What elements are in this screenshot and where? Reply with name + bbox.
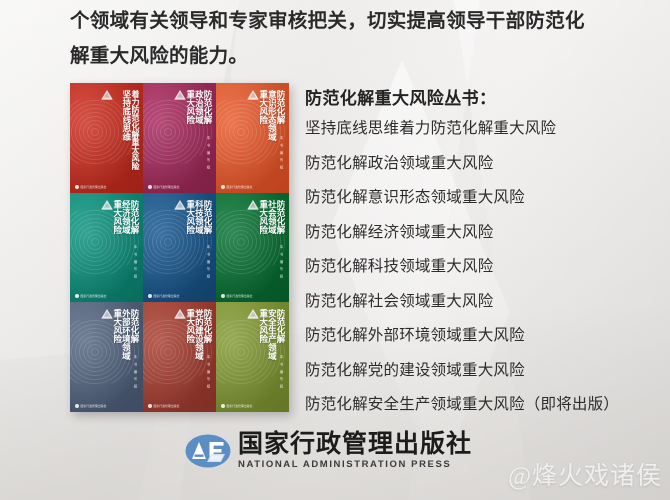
cover-author-line: 本 书 编 写 组	[133, 355, 138, 388]
cover-publisher-name: 国家行政管理出版社	[227, 185, 253, 189]
mountain-emblem-icon	[245, 197, 260, 208]
cover-publisher-name: 国家行政管理出版社	[81, 294, 107, 298]
cover-title-column: 防范化解	[203, 200, 212, 234]
series-list-item: 防范化解安全生产领域重大风险（即将出版）	[305, 397, 665, 413]
mountain-emblem-icon	[245, 87, 260, 98]
cover-author-line: 本 书 编 写 组	[206, 136, 211, 169]
book-economy: 防范化解经济领域重大风险本 书 编 写 组国家行政管理出版社	[70, 193, 143, 303]
cover-publisher-dot-icon	[75, 185, 79, 189]
mountain-emblem-icon	[99, 87, 114, 98]
cover-publisher-dot-icon	[75, 294, 79, 298]
series-title: 防范化解重大风险丛书：	[305, 84, 665, 109]
publisher-footer: 国家行政管理出版社 NATIONAL ADMINISTRATION PRESS	[185, 432, 472, 470]
mountain-emblem-icon	[99, 197, 114, 208]
series-list-item: 防范化解社会领域重大风险	[305, 294, 665, 310]
cover-author-line: 本 书 编 写 组	[279, 355, 284, 388]
series-list-item: 防范化解意识形态领域重大风险	[305, 190, 665, 206]
book-society: 防范化解社会领域重大风险本 书 编 写 组国家行政管理出版社	[216, 193, 289, 303]
mountain-emblem-icon	[245, 306, 260, 317]
series-list-item: 防范化解外部环境领域重大风险	[305, 328, 665, 344]
cover-publisher-dot-icon	[221, 294, 225, 298]
watermark-text: @烽火戏诸侯	[508, 456, 662, 492]
series-list-item: 防范化解政治领域重大风险	[305, 156, 665, 172]
cover-publisher-name: 国家行政管理出版社	[81, 185, 107, 189]
cover-publisher-name: 国家行政管理出版社	[154, 404, 180, 408]
mountain-emblem-icon	[99, 306, 114, 317]
series-book-list: 坚持底线思维着力防范化解重大风险防范化解政治领域重大风险防范化解意识形态领域重大…	[305, 121, 665, 413]
book-work-safety: 防范化解安全生产领域重大风险本 书 编 写 组国家行政管理出版社	[216, 302, 289, 412]
cover-author-line: 本 书 编 写 组	[279, 136, 284, 169]
cover-publisher-mark: 国家行政管理出版社	[148, 404, 180, 408]
cover-publisher-mark: 国家行政管理出版社	[75, 404, 107, 408]
cover-author-line: 本 书 编 写 组	[133, 245, 138, 278]
book-ideology: 防范化解意识形态领域重大风险本 书 编 写 组国家行政管理出版社	[216, 83, 289, 193]
mountain-emblem-icon	[172, 306, 187, 317]
cover-publisher-mark: 国家行政管理出版社	[221, 185, 253, 189]
series-panel: 防范化解重大风险丛书： 坚持底线思维着力防范化解重大风险防范化解政治领域重大风险…	[305, 84, 665, 432]
book-party-building: 防范化解党的建设领域重大风险本 书 编 写 组国家行政管理出版社	[143, 302, 216, 412]
cover-publisher-dot-icon	[148, 185, 152, 189]
cover-author-line: 本 书 编 写 组	[206, 245, 211, 278]
cover-title-column: 防范化解	[276, 309, 285, 343]
mountain-emblem-icon	[172, 87, 187, 98]
cover-publisher-name: 国家行政管理出版社	[227, 294, 253, 298]
series-list-item: 坚持底线思维着力防范化解重大风险	[305, 121, 665, 137]
cover-author-line: 本 书 编 写 组	[206, 355, 211, 388]
cover-title-column: 坚持底线思维	[122, 90, 131, 141]
cover-publisher-mark: 国家行政管理出版社	[148, 294, 180, 298]
cover-publisher-mark: 国家行政管理出版社	[148, 185, 180, 189]
mountain-emblem-icon	[172, 197, 187, 208]
header-paragraph: 个领域有关领导和专家审核把关，切实提高领导干部防范化 解重大风险的能力。	[70, 4, 622, 74]
cover-publisher-name: 国家行政管理出版社	[154, 294, 180, 298]
book-political: 防范化解政治领域重大风险本 书 编 写 组国家行政管理出版社	[143, 83, 216, 193]
cover-title-column: 防范化解	[276, 90, 285, 124]
publisher-logo-icon	[185, 434, 231, 468]
series-list-item: 防范化解党的建设领域重大风险	[305, 363, 665, 379]
cover-author-line: 本 书 编 写 组	[133, 136, 138, 169]
cover-publisher-dot-icon	[75, 404, 79, 408]
book-cover-grid: 着力防范化解重大风险坚持底线思维本 书 编 写 组国家行政管理出版社防范化解政治…	[70, 83, 289, 412]
cover-title-column: 防范化解	[203, 90, 212, 124]
publisher-name-cn: 国家行政管理出版社	[238, 432, 472, 458]
cover-title-column: 防范化解	[130, 200, 139, 234]
cover-publisher-dot-icon	[148, 294, 152, 298]
cover-publisher-mark: 国家行政管理出版社	[221, 404, 253, 408]
header-paragraph-line-1: 个领域有关领导和专家审核把关，切实提高领导干部防范化	[70, 4, 622, 39]
cover-publisher-mark: 国家行政管理出版社	[221, 294, 253, 298]
cover-author-line: 本 书 编 写 组	[279, 245, 284, 278]
series-list-item: 防范化解经济领域重大风险	[305, 225, 665, 241]
cover-title-column: 防范化解	[276, 200, 285, 234]
cover-publisher-dot-icon	[221, 404, 225, 408]
cover-publisher-name: 国家行政管理出版社	[227, 404, 253, 408]
publisher-name-en: NATIONAL ADMINISTRATION PRESS	[238, 459, 472, 470]
cover-publisher-mark: 国家行政管理出版社	[75, 294, 107, 298]
cover-title-column: 防范化解	[130, 309, 139, 343]
cover-publisher-dot-icon	[221, 185, 225, 189]
book-external-environment: 防范化解外部环境领域重大风险本 书 编 写 组国家行政管理出版社	[70, 302, 143, 412]
header-paragraph-line-2: 解重大风险的能力。	[70, 39, 622, 74]
book-technology: 防范化解科技领域重大风险本 书 编 写 组国家行政管理出版社	[143, 193, 216, 303]
book-bottom-line-thinking: 着力防范化解重大风险坚持底线思维本 书 编 写 组国家行政管理出版社	[70, 83, 143, 193]
cover-publisher-name: 国家行政管理出版社	[81, 404, 107, 408]
series-list-item: 防范化解科技领域重大风险	[305, 259, 665, 275]
publisher-names: 国家行政管理出版社 NATIONAL ADMINISTRATION PRESS	[238, 432, 472, 470]
cover-publisher-dot-icon	[148, 404, 152, 408]
cover-publisher-name: 国家行政管理出版社	[154, 185, 180, 189]
cover-publisher-mark: 国家行政管理出版社	[75, 185, 107, 189]
cover-title-column: 防范化解	[203, 309, 212, 343]
